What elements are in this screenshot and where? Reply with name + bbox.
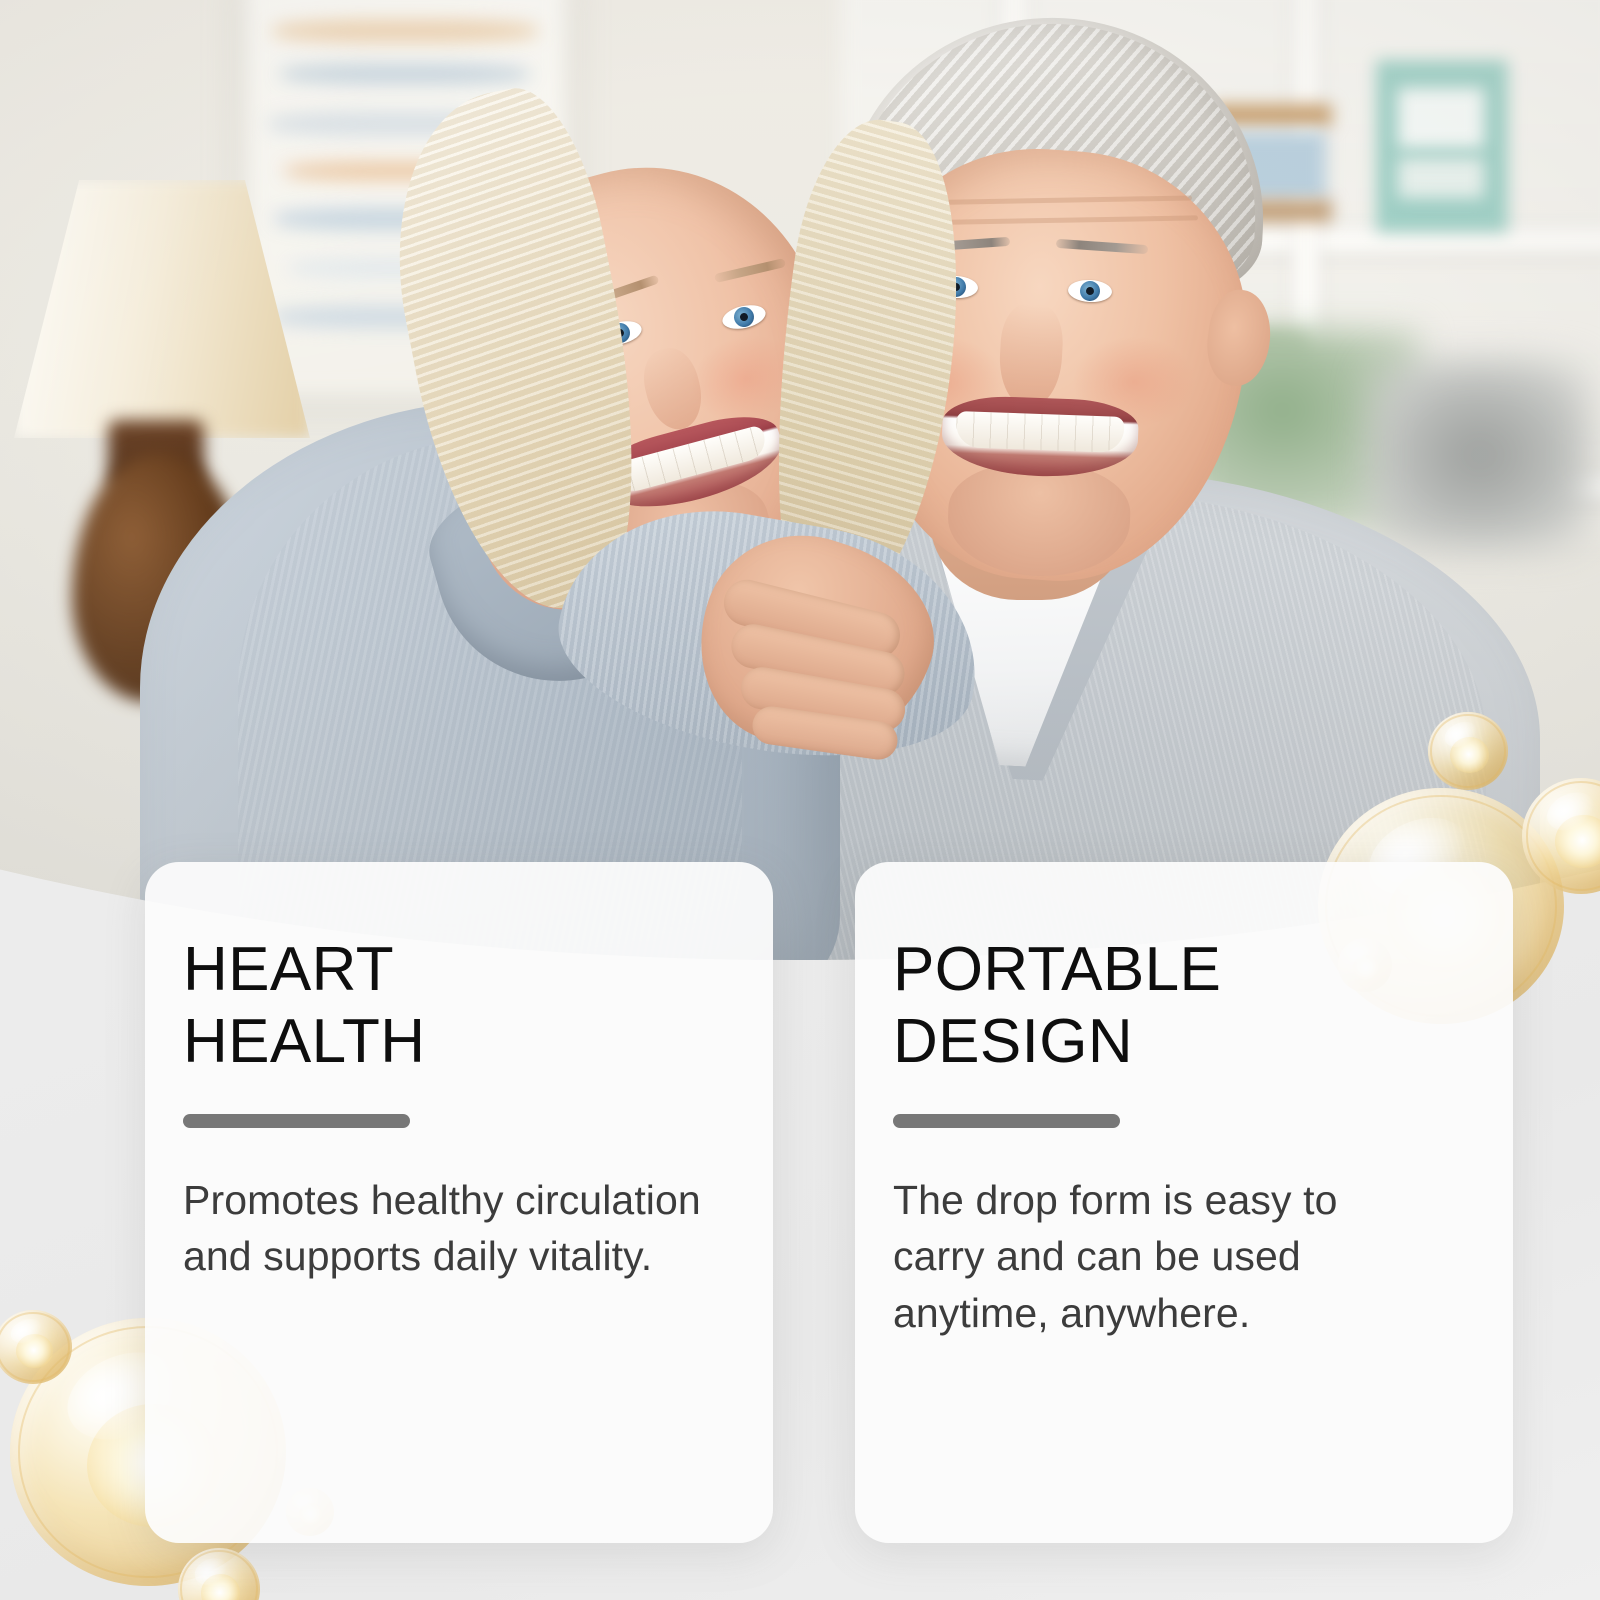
- feature-card-heart-health[interactable]: HEART HEALTH Promotes healthy circulatio…: [145, 862, 773, 1543]
- feature-cards: HEART HEALTH Promotes healthy circulatio…: [0, 0, 1600, 1600]
- card-body: The drop form is easy to carry and can b…: [893, 1172, 1433, 1342]
- card-title: PORTABLE DESIGN: [893, 934, 1455, 1078]
- card-title: HEART HEALTH: [183, 934, 715, 1078]
- poster-canvas: HEART HEALTH Promotes healthy circulatio…: [0, 0, 1600, 1600]
- feature-card-portable-design[interactable]: PORTABLE DESIGN The drop form is easy to…: [855, 862, 1513, 1543]
- card-body: Promotes healthy circulation and support…: [183, 1172, 703, 1285]
- card-divider: [893, 1114, 1120, 1128]
- card-divider: [183, 1114, 410, 1128]
